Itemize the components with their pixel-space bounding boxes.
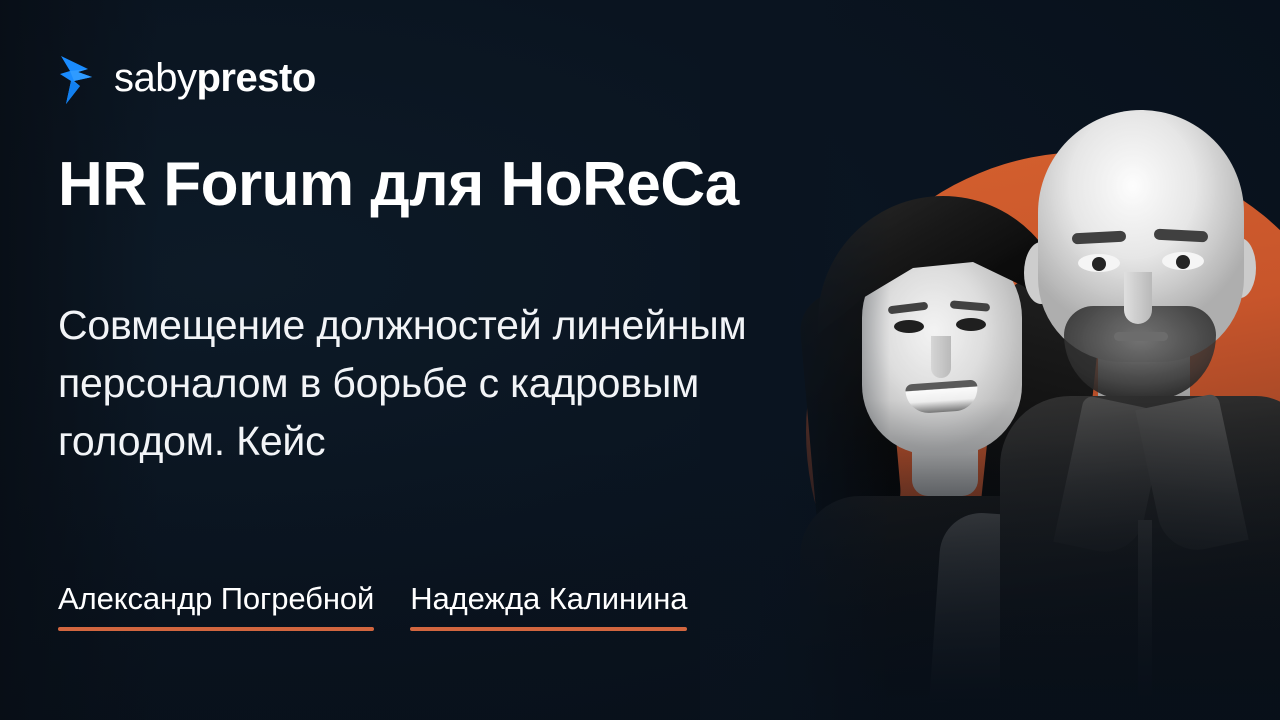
slide-content: sabypresto HR Forum для HoReCa Совмещени… [0, 0, 1280, 720]
speaker-underline [410, 627, 687, 631]
speaker-underline [58, 627, 374, 631]
page-subtitle: Совмещение должностей линейным персонало… [58, 296, 848, 471]
speaker-name: Александр Погребной [58, 578, 374, 620]
presentation-slide: sabypresto HR Forum для HoReCa Совмещени… [0, 0, 1280, 720]
saby-presto-logo: sabypresto [58, 50, 316, 106]
saby-bird-icon [58, 50, 104, 106]
logo-wordmark: sabypresto [114, 58, 316, 98]
speaker-item: Александр Погребной [58, 578, 374, 631]
logo-text-saby: saby [114, 56, 197, 100]
logo-text-presto: presto [197, 56, 316, 100]
page-title: HR Forum для HoReCa [58, 152, 739, 217]
speakers-list: Александр Погребной Надежда Калинина [58, 578, 687, 631]
speaker-name: Надежда Калинина [410, 578, 687, 620]
speaker-item: Надежда Калинина [410, 578, 687, 631]
